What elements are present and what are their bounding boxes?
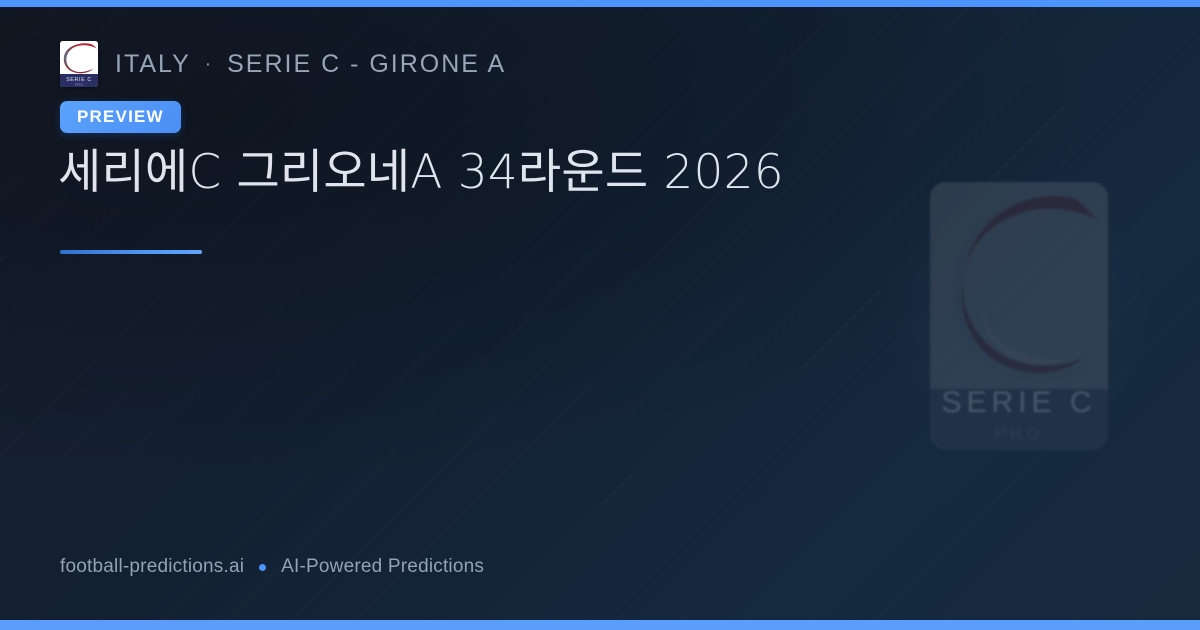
breadcrumb: ITALY · SERIE C - GIRONE A: [115, 50, 506, 79]
logo-pro-label: PRO: [60, 83, 98, 87]
breadcrumb-separator-icon: ·: [205, 55, 213, 74]
watermark-serie-label: SERIE C: [930, 386, 1108, 420]
breadcrumb-competition: SERIE C - GIRONE A: [227, 50, 506, 79]
og-preview-card: SERIE C PRO SERIE C PRO ITALY · SERIE C …: [0, 0, 1200, 630]
bottom-accent-bar: [0, 620, 1200, 630]
breadcrumb-country: ITALY: [115, 50, 191, 79]
footer-separator-dot-icon: [259, 564, 266, 571]
header-row: SERIE C PRO ITALY · SERIE C - GIRONE A: [60, 41, 506, 87]
status-badge-preview: PREVIEW: [60, 101, 181, 133]
serie-c-logo-icon: SERIE C PRO: [60, 41, 98, 87]
page-title: 세리에C 그리오네A 34라운드 2026: [58, 144, 858, 201]
logo-c-swoosh-icon: [60, 41, 98, 74]
footer: football-predictions.ai AI-Powered Predi…: [60, 556, 484, 578]
league-crest-watermark: SERIE C PRO: [878, 173, 1160, 455]
watermark-pro-label: PRO: [930, 424, 1108, 444]
title-underline-accent: [60, 250, 202, 254]
footer-site-name: football-predictions.ai: [60, 556, 244, 578]
watermark-shield: SERIE C PRO: [930, 182, 1108, 450]
watermark-c-swoosh-icon: [930, 182, 1108, 389]
top-accent-bar: [0, 0, 1200, 7]
footer-tagline: AI-Powered Predictions: [281, 556, 484, 578]
